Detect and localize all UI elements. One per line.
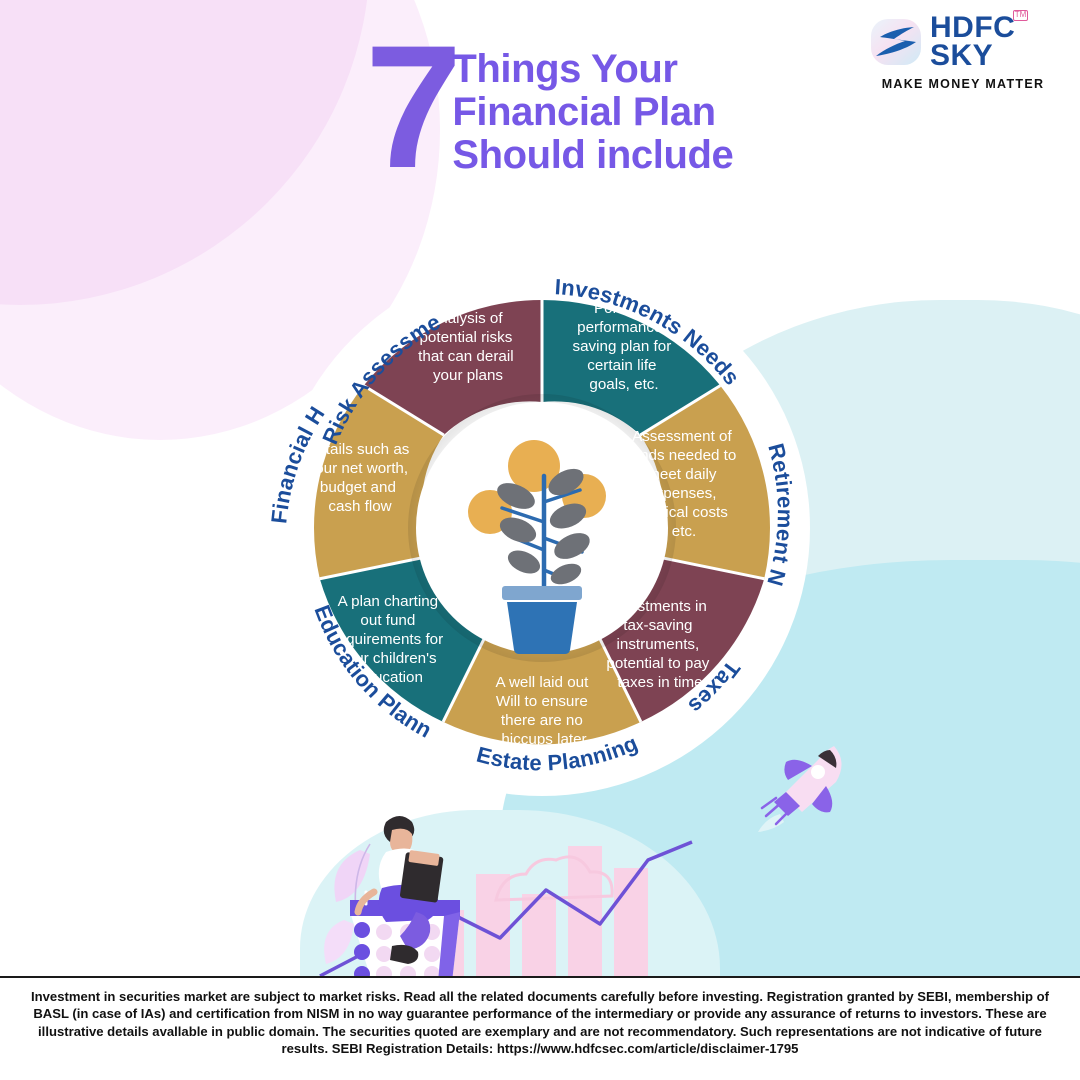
rocket-icon — [752, 740, 862, 840]
logo-name-line-2: SKY — [930, 42, 1015, 70]
hdfc-sky-mark-icon — [870, 16, 922, 68]
title-line-1: Things Your — [452, 48, 733, 91]
logo-tagline: MAKE MONEY MATTER — [870, 77, 1056, 91]
title-text: Things Your Financial Plan Should includ… — [452, 48, 733, 176]
logo-wordmark: HDFC SKY TM — [930, 14, 1015, 70]
logo-row: HDFC SKY TM — [870, 14, 1056, 70]
title-line-3: Should include — [452, 134, 733, 177]
logo-name-line-1: HDFC — [930, 14, 1015, 42]
disclaimer-bar: Investment in securities market are subj… — [0, 976, 1080, 1080]
trademark-icon: TM — [1013, 10, 1029, 21]
title-line-2: Financial Plan — [452, 91, 733, 134]
infographic-canvas: 7 Things Your Financial Plan Should incl… — [0, 0, 1080, 1080]
title-number: 7 — [365, 36, 456, 180]
segment-body-taxes: Investments in tax-saving instruments, p… — [606, 598, 713, 691]
page-title: 7 Things Your Financial Plan Should incl… — [365, 42, 885, 207]
disclaimer-text: Investment in securities market are subj… — [16, 988, 1064, 1058]
person-with-clipboard-illustration — [312, 800, 512, 980]
brand-logo: HDFC SKY TM MAKE MONEY MATTER — [870, 14, 1056, 91]
